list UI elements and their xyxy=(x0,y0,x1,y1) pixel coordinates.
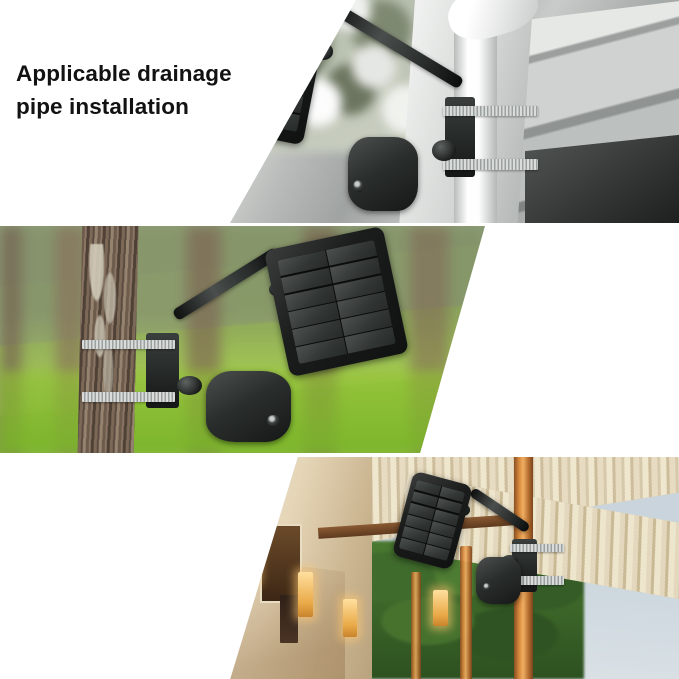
scene-cylindrical-railing xyxy=(228,457,679,679)
solar-panel xyxy=(264,226,409,378)
photo-drainage-pipe xyxy=(225,0,679,223)
solar-cell xyxy=(232,65,270,89)
tree-strap-upper xyxy=(82,340,174,350)
device-assembly xyxy=(228,457,679,679)
panel-tree-trunk: Suitable for trunk installation xyxy=(0,226,679,453)
photo-tree-trunk xyxy=(0,226,485,453)
post-strap-upper xyxy=(510,544,564,553)
solar-cell xyxy=(276,36,314,60)
security-camera xyxy=(206,371,291,441)
solar-cell xyxy=(240,29,278,53)
solar-cell xyxy=(279,18,317,42)
solar-cell-grid xyxy=(399,479,466,561)
caption-drainage-pipe: Applicable drainage pipe installation xyxy=(16,57,232,123)
tree-strap-lower xyxy=(82,392,174,402)
arm-joint-lower xyxy=(177,376,202,396)
solar-panel xyxy=(225,0,328,145)
solar-panel xyxy=(391,471,472,570)
solar-cell xyxy=(243,11,281,35)
solar-cell xyxy=(229,83,267,107)
scene-tree-trunk xyxy=(0,226,485,453)
camera-lens xyxy=(267,415,280,426)
panel-cylindrical-railing: Suitable for outdoor cylindrical railing… xyxy=(0,457,679,679)
arm-joint-upper xyxy=(314,43,333,59)
solar-cell xyxy=(236,47,274,71)
camera-lens xyxy=(483,583,491,591)
security-camera xyxy=(348,137,418,211)
security-camera xyxy=(476,557,521,604)
mount-strap-upper xyxy=(443,106,538,116)
panel-drainage-pipe: Applicable drainage pipe installation xyxy=(0,0,679,223)
wall-sconce xyxy=(239,524,258,582)
scene-drainage-pipe xyxy=(225,0,679,223)
solar-cell-grid xyxy=(225,11,317,133)
device-assembly xyxy=(0,226,485,453)
device-assembly xyxy=(225,0,679,223)
articulating-arm xyxy=(171,247,280,322)
articulating-arm xyxy=(469,487,531,533)
solar-cell-grid xyxy=(277,240,396,364)
solar-cell xyxy=(269,72,307,96)
solar-cell xyxy=(265,90,303,114)
mount-strap-lower xyxy=(443,159,538,169)
camera-lens xyxy=(353,180,364,193)
solar-cell xyxy=(272,54,310,78)
photo-cylindrical-railing xyxy=(228,457,679,679)
articulating-arm xyxy=(329,2,464,90)
product-feature-image: Applicable drainage pipe installation xyxy=(0,0,679,679)
